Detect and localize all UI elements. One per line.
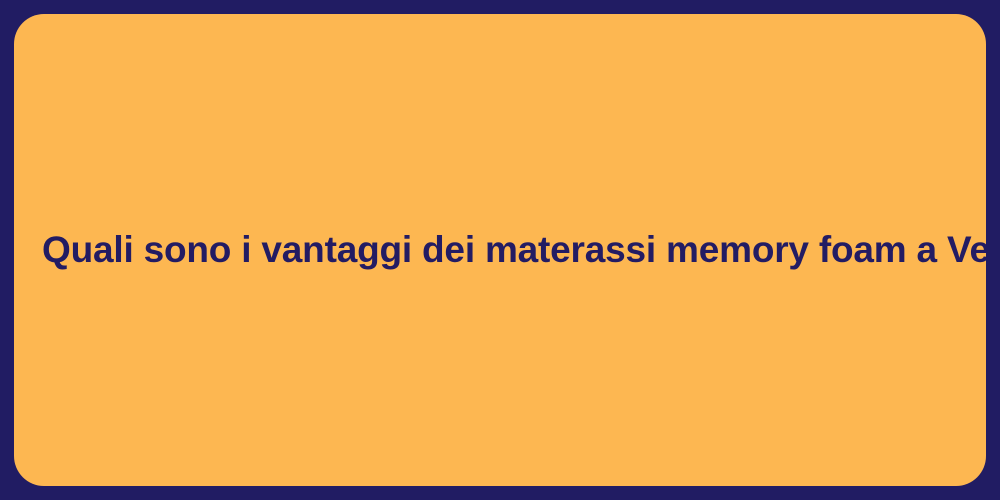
question-card: Quali sono i vantaggi dei materassi memo… xyxy=(14,14,986,486)
page-frame: Quali sono i vantaggi dei materassi memo… xyxy=(0,0,1000,500)
page-title: Quali sono i vantaggi dei materassi memo… xyxy=(14,227,986,273)
